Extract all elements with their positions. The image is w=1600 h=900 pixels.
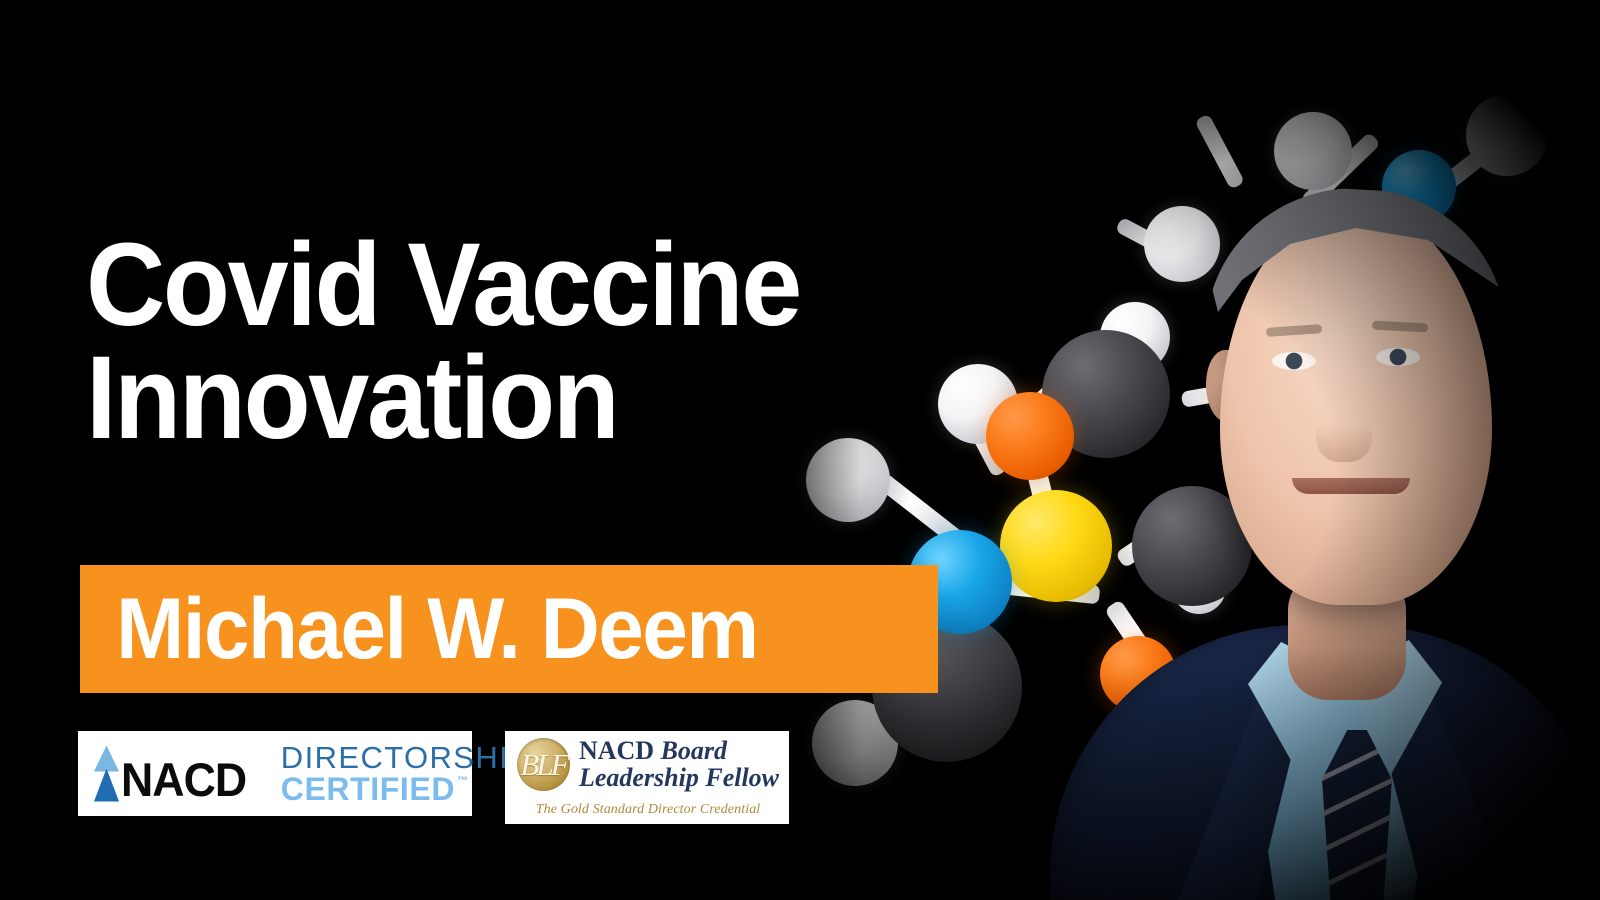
nacd-credential-text: DIRECTORSHIP CERTIFIED ™ <box>281 742 531 805</box>
blf-wordmark: NACD Board Leadership Fellow <box>579 738 779 791</box>
page-title: Covid Vaccine Innovation <box>86 229 923 456</box>
blf-seal-icon: BLF <box>517 738 570 791</box>
trademark-icon: ™ <box>457 776 468 787</box>
blf-tagline: The Gold Standard Director Credential <box>536 802 761 818</box>
badge-line-directorship: DIRECTORSHIP <box>281 742 531 773</box>
speaker-portrait <box>1020 70 1600 900</box>
blf-board: Board <box>661 736 727 765</box>
title-line-2: Innovation <box>86 342 923 455</box>
title-line-1: Covid Vaccine <box>86 229 923 342</box>
slide-canvas: Covid Vaccine Innovation Michael W. Deem… <box>0 0 1600 900</box>
nacd-logo: NACD <box>94 746 253 802</box>
badge-line-certified: CERTIFIED <box>281 773 455 805</box>
nacd-wordmark: NACD <box>121 759 246 801</box>
blf-line-1: NACD Board <box>579 736 727 765</box>
mouth <box>1292 478 1410 494</box>
credential-badges: NACD DIRECTORSHIP CERTIFIED ™ BLF NACD B… <box>78 731 789 824</box>
eye-left <box>1272 352 1316 370</box>
blf-org: NACD <box>579 736 661 765</box>
blf-line-2: Leadership Fellow <box>579 763 779 792</box>
blf-header: BLF NACD Board Leadership Fellow <box>517 738 779 791</box>
badge-nacd-directorship-certified: NACD DIRECTORSHIP CERTIFIED ™ <box>78 731 472 816</box>
nacd-triangle-icon <box>94 746 119 802</box>
badge-nacd-board-leadership-fellow: BLF NACD Board Leadership Fellow The Gol… <box>505 731 789 824</box>
speaker-name: Michael W. Deem <box>80 586 758 672</box>
nose <box>1316 400 1372 462</box>
eye-right <box>1376 348 1420 366</box>
blf-monogram: BLF <box>517 738 570 791</box>
speaker-name-banner: Michael W. Deem <box>80 565 938 693</box>
